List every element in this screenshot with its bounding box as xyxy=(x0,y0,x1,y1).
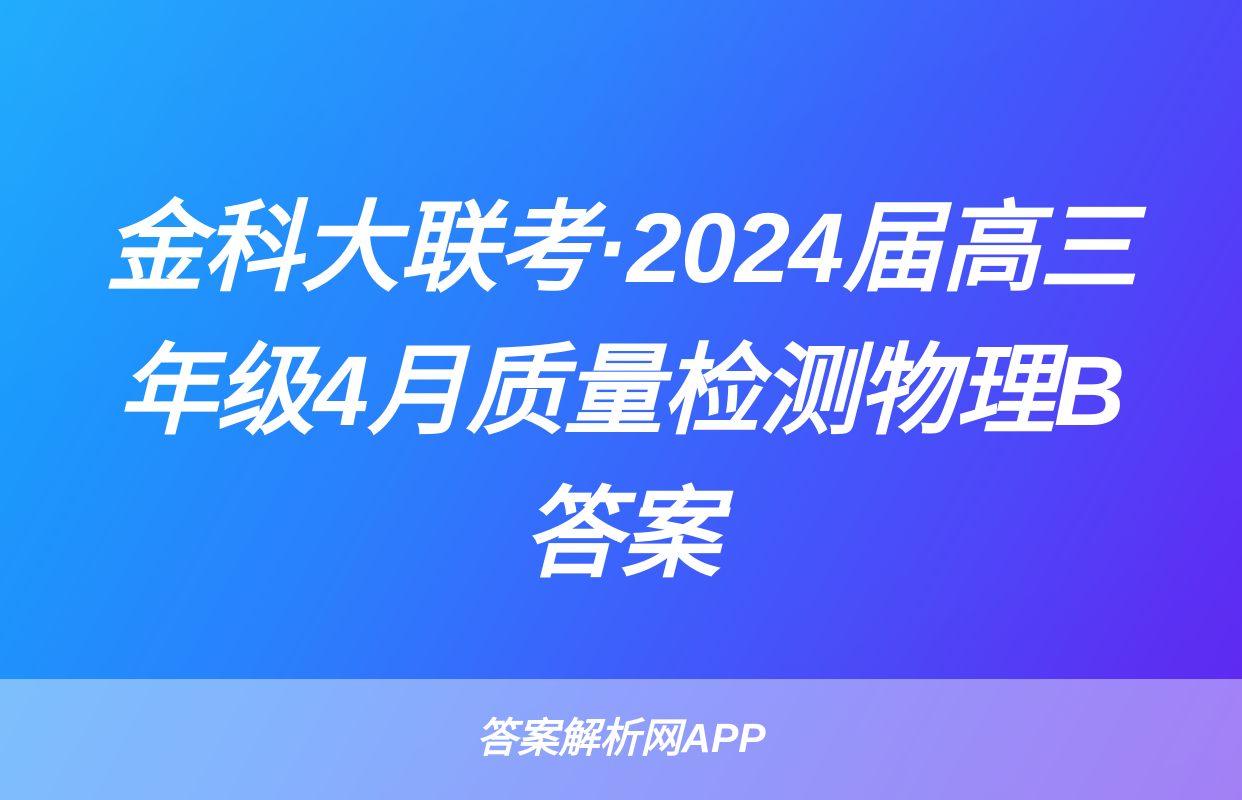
watermark-bar: 答案解析网APP xyxy=(0,679,1242,800)
watermark-app-label: 答案解析网APP xyxy=(476,718,765,759)
page-title: 金科大联考·2024届高三 年级4月质量检测物理B 答案 xyxy=(0,176,1242,605)
poster-canvas: 金科大联考·2024届高三 年级4月质量检测物理B 答案 答案解析网APP xyxy=(0,0,1242,800)
title-line-1: 金科大联考·2024届高三 xyxy=(0,176,1242,319)
title-line-3: 答案 xyxy=(0,462,1242,605)
title-line-2: 年级4月质量检测物理B xyxy=(0,319,1242,462)
